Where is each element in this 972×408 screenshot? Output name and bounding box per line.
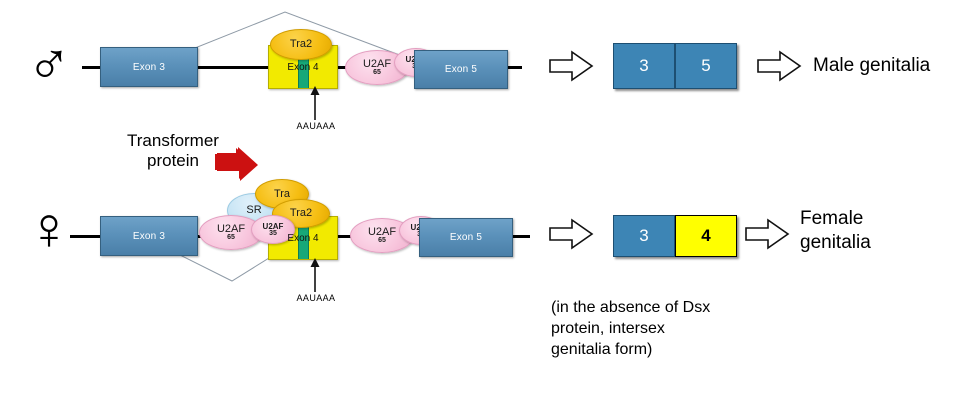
female-tra-label: Tra xyxy=(274,189,290,200)
female-polya-label: AAUAAA xyxy=(285,293,347,303)
female-tra2-label: Tra2 xyxy=(290,208,312,219)
red-arrow-icon xyxy=(215,148,265,190)
female-u2af65-right-sub: 65 xyxy=(378,237,386,244)
male-arrow-to-phenotype xyxy=(757,50,802,82)
diagram-canvas: ♂ Exon 3 Exon 4 Tra2 U2AF 65 U2AF 35 Exo… xyxy=(0,0,972,408)
male-mrna-segment-exon3: 3 xyxy=(613,43,675,89)
intersex-note-line2: protein, intersex xyxy=(551,318,665,339)
female-u2af35-left-sub: 35 xyxy=(269,230,277,237)
female-phenotype-label-line1: Female xyxy=(800,207,863,231)
female-symbol: ♀ xyxy=(18,196,80,266)
male-exon3-label: Exon 3 xyxy=(133,62,165,73)
intersex-note-line3: genitalia form) xyxy=(551,339,652,360)
female-exon5-box: Exon 5 xyxy=(419,218,513,257)
male-mrna-product: 3 5 xyxy=(613,43,737,89)
male-u2af65-sub: 65 xyxy=(373,69,381,76)
male-protein-tra2: Tra2 xyxy=(270,29,332,60)
female-mrna-product: 3 4 xyxy=(613,215,737,257)
male-mrna-segment-exon3-label: 3 xyxy=(639,56,648,76)
male-polya-label: AAUAAA xyxy=(285,121,347,131)
female-mrna-segment-exon3: 3 xyxy=(613,215,675,257)
male-mrna-segment-exon5-label: 5 xyxy=(701,56,710,76)
female-exon3-label: Exon 3 xyxy=(133,231,165,242)
female-u2af65-left-sub: 65 xyxy=(227,234,235,241)
female-exon3-box: Exon 3 xyxy=(100,216,198,256)
male-exon5-box: Exon 5 xyxy=(414,50,508,89)
female-exon4-label: Exon 4 xyxy=(287,233,318,244)
female-arrow-to-mrna xyxy=(549,218,594,250)
male-symbol: ♂ xyxy=(18,31,80,93)
female-mrna-segment-exon3-label: 3 xyxy=(639,226,648,246)
female-mrna-segment-exon4-label: 4 xyxy=(701,226,710,246)
female-phenotype-label-line2: genitalia xyxy=(800,231,871,255)
female-arrow-to-phenotype xyxy=(745,218,790,250)
male-mrna-segment-exon5: 5 xyxy=(675,43,737,89)
male-phenotype-label: Male genitalia xyxy=(813,54,930,78)
intersex-note-line1: (in the absence of Dsx xyxy=(551,297,710,318)
female-polya-arrow xyxy=(300,258,330,292)
male-exon5-label: Exon 5 xyxy=(445,64,477,75)
male-exon4-label: Exon 4 xyxy=(287,62,318,73)
female-exon5-label: Exon 5 xyxy=(450,232,482,243)
male-tra2-label: Tra2 xyxy=(290,39,312,50)
female-mrna-segment-exon4: 4 xyxy=(675,215,737,257)
male-polya-arrow xyxy=(300,86,330,120)
female-sr-label: SR xyxy=(246,205,261,216)
male-exon3-box: Exon 3 xyxy=(100,47,198,87)
male-arrow-to-mrna xyxy=(549,50,594,82)
